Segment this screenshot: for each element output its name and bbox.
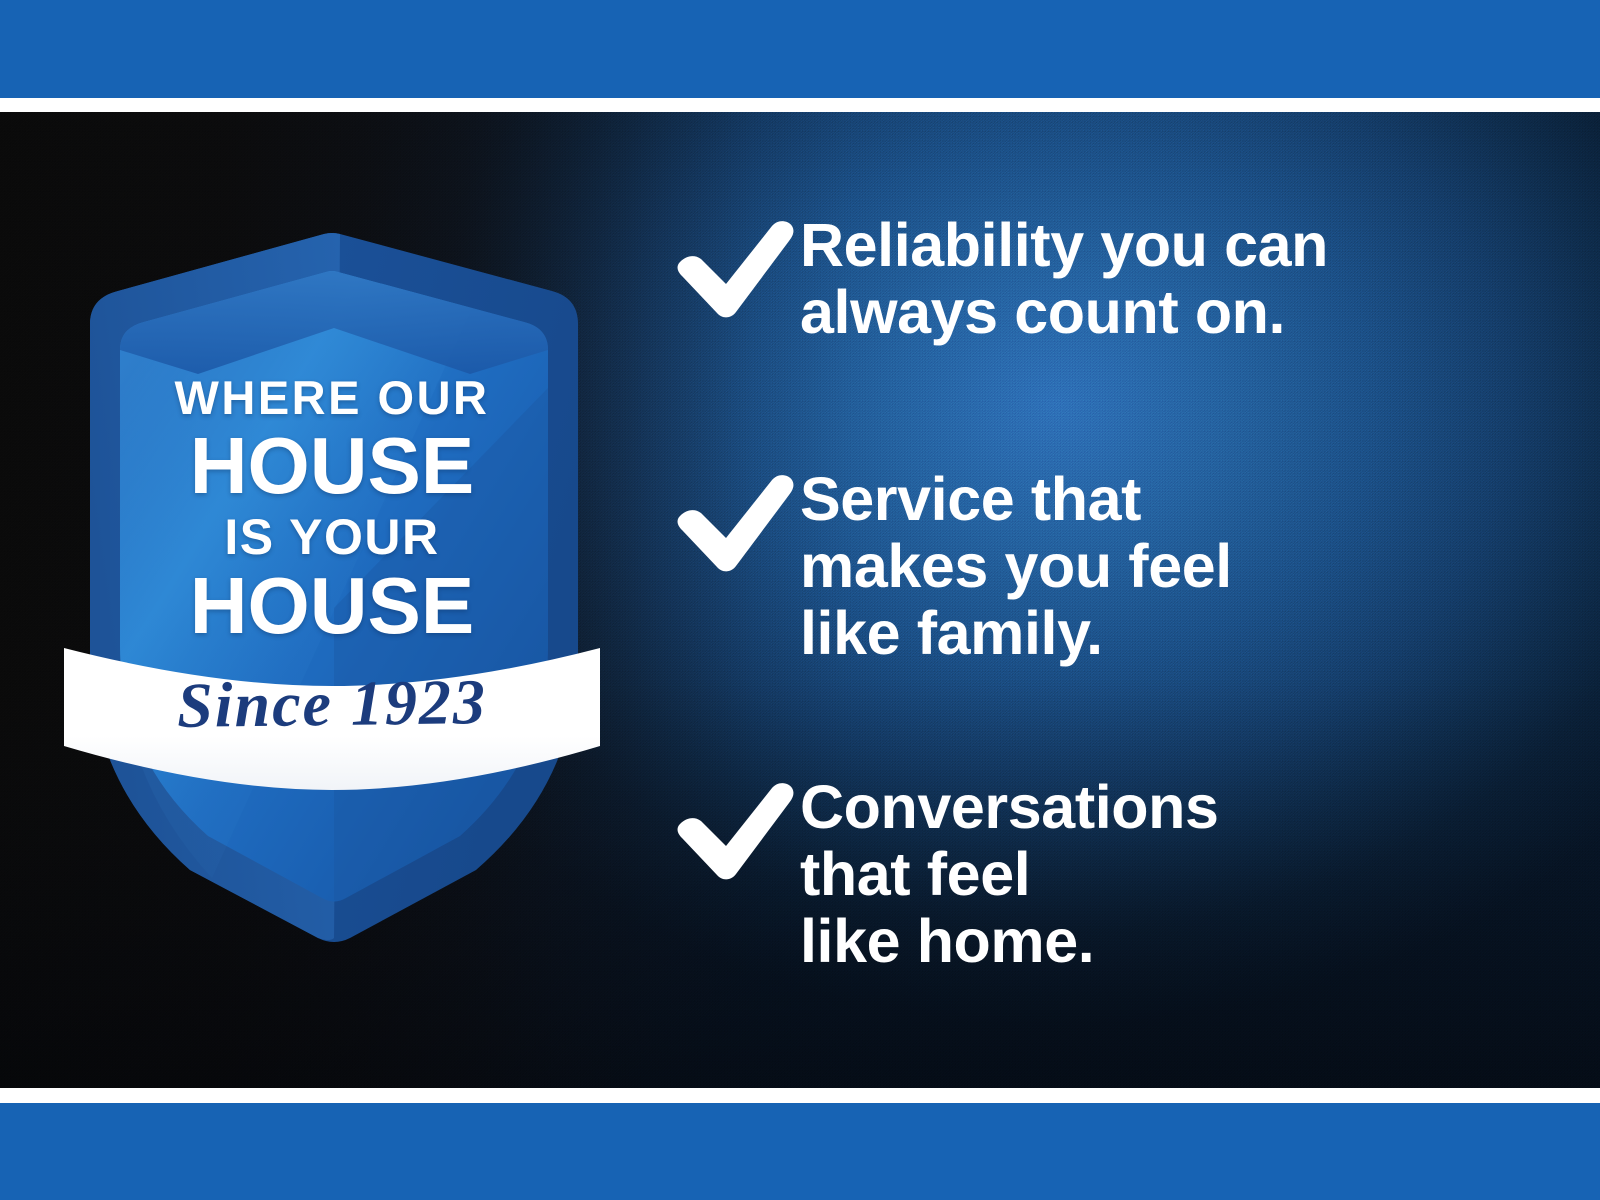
list-item-line: always count on. xyxy=(800,279,1528,346)
badge-line-where-our: WHERE OUR xyxy=(62,374,602,421)
promo-graphic: WHERE OUR HOUSE IS YOUR HOUSE Since 1923… xyxy=(0,0,1600,1200)
check-icon xyxy=(668,776,800,886)
list-item: Service that makes you feel like family. xyxy=(668,464,1528,667)
check-icon xyxy=(668,214,800,324)
list-item-text: Reliability you can always count on. xyxy=(800,210,1528,346)
list-item-line: Reliability you can xyxy=(800,212,1528,279)
bottom-brand-bar xyxy=(0,1103,1600,1200)
badge-line-is-your: IS YOUR xyxy=(62,512,602,562)
top-brand-bar xyxy=(0,0,1600,98)
list-item-line: makes you feel xyxy=(800,533,1528,600)
list-item-line: Conversations xyxy=(800,774,1528,841)
list-item-text: Conversations that feel like home. xyxy=(800,772,1528,975)
badge-since-year: Since 1923 xyxy=(62,669,603,740)
badge-line-house-top: HOUSE xyxy=(62,426,602,506)
list-item: Reliability you can always count on. xyxy=(668,210,1528,346)
list-item-line: Service that xyxy=(800,466,1528,533)
list-item-text: Service that makes you feel like family. xyxy=(800,464,1528,667)
shield-badge: WHERE OUR HOUSE IS YOUR HOUSE Since 1923 xyxy=(62,178,602,948)
list-item: Conversations that feel like home. xyxy=(668,772,1528,975)
list-item-line: like family. xyxy=(800,600,1528,667)
list-item-line: that feel xyxy=(800,841,1528,908)
list-item-line: like home. xyxy=(800,908,1528,975)
badge-line-house-bottom: HOUSE xyxy=(62,566,602,646)
check-icon xyxy=(668,468,800,578)
benefits-list: Reliability you can always count on. Ser… xyxy=(668,112,1528,1088)
